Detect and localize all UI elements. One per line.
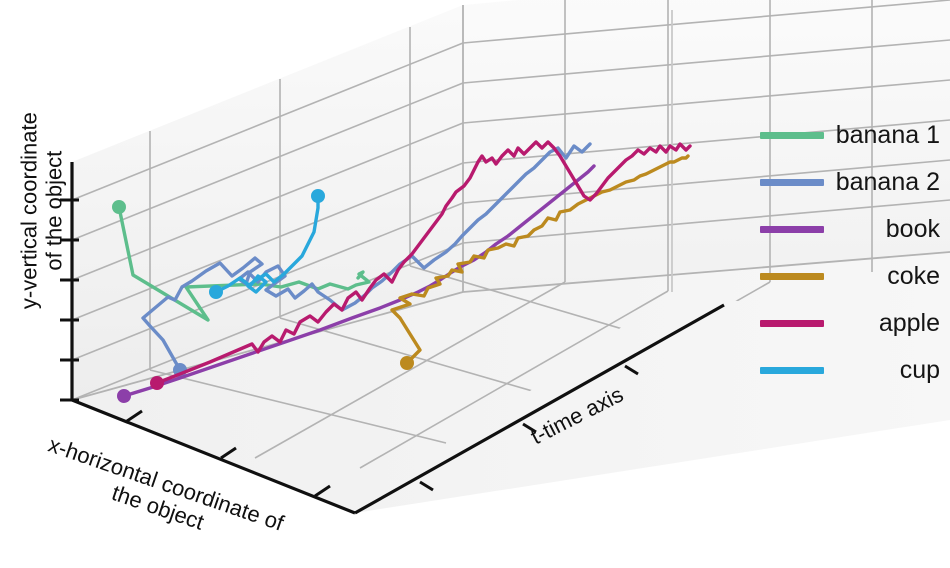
legend-item-cup[interactable]: cup (760, 347, 950, 394)
series-start-marker (150, 376, 164, 390)
legend-color-swatch (760, 367, 824, 374)
legend-item-apple[interactable]: apple (760, 300, 950, 347)
series-start-marker (209, 285, 223, 299)
series-start-marker (117, 389, 131, 403)
legend-label: book (824, 217, 950, 242)
legend-color-swatch (760, 179, 824, 186)
legend-color-swatch (760, 320, 824, 327)
legend-color-swatch (760, 273, 824, 280)
legend-label: banana 2 (824, 170, 950, 195)
legend-label: cup (824, 358, 950, 383)
chart-root: y-vertical coordinate of the object x-ho… (0, 0, 950, 540)
y-axis-label: y-vertical coordinate of the object (17, 81, 66, 341)
legend-label: coke (824, 264, 950, 289)
legend-label: apple (824, 311, 950, 336)
legend-color-swatch (760, 226, 824, 233)
series-start-marker (400, 356, 414, 370)
legend: banana 1banana 2bookcokeapplecup (760, 112, 950, 394)
legend-item-banana-1[interactable]: banana 1 (760, 112, 950, 159)
legend-color-swatch (760, 132, 824, 139)
series-end-marker (311, 189, 325, 203)
legend-item-coke[interactable]: coke (760, 253, 950, 300)
legend-item-book[interactable]: book (760, 206, 950, 253)
legend-label: banana 1 (824, 123, 950, 148)
series-start-marker (112, 200, 126, 214)
legend-item-banana-2[interactable]: banana 2 (760, 159, 950, 206)
